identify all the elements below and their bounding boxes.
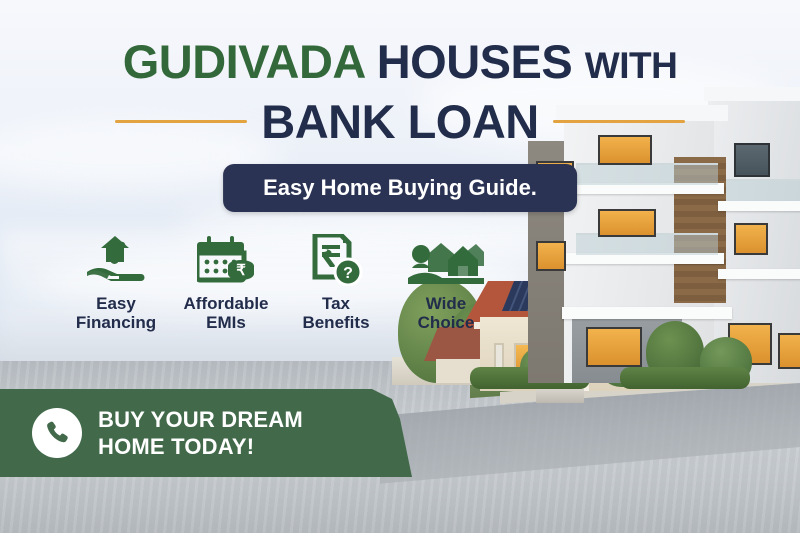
cta-banner[interactable]: BUY YOUR DREAM HOME TODAY!	[0, 389, 412, 477]
headline-location: GUDIVADA	[123, 35, 364, 88]
headline-line-2: BANK LOAN	[261, 94, 538, 149]
headline-with: WITH	[585, 45, 678, 86]
hand-holding-house-icon	[66, 228, 166, 286]
feature-easy-financing: Easy Financing	[66, 228, 166, 332]
cta-text: BUY YOUR DREAM HOME TODAY!	[98, 406, 303, 461]
cta-line-1: BUY YOUR DREAM	[98, 407, 303, 432]
divider-rule-right	[553, 120, 685, 123]
feature-label: Affordable EMIs	[176, 294, 276, 332]
feature-list: Easy Financing ₹	[66, 228, 496, 332]
svg-text:?: ?	[343, 265, 353, 282]
headline-subject: HOUSES	[377, 35, 573, 88]
headline: GUDIVADA HOUSES WITH BANK LOAN	[0, 38, 800, 149]
advertisement-banner: GUDIVADA HOUSES WITH BANK LOAN Easy Home…	[0, 0, 800, 533]
subtitle-pill: Easy Home Buying Guide.	[223, 164, 577, 212]
feature-tax-benefits: ? Tax Benefits	[286, 228, 386, 332]
feature-label: Easy Financing	[66, 294, 166, 332]
balcony-railing	[576, 163, 718, 185]
rupee-document-question-icon: ?	[286, 228, 386, 286]
feature-label: Tax Benefits	[286, 294, 386, 332]
cta-line-2: HOME TODAY!	[98, 434, 254, 459]
svg-text:₹: ₹	[236, 262, 246, 279]
feature-wide-choice: Wide Choice	[396, 228, 496, 332]
calendar-rupee-icon: ₹	[176, 228, 276, 286]
phone-icon[interactable]	[32, 408, 82, 458]
balcony-railing	[726, 179, 800, 201]
feature-affordable-emis: ₹ Affordable EMIs	[176, 228, 276, 332]
divider-rule-left	[115, 120, 247, 123]
headline-line-1: GUDIVADA HOUSES WITH	[0, 38, 800, 87]
feature-label: Wide Choice	[396, 294, 496, 332]
hedge	[620, 367, 750, 389]
houses-cluster-icon	[396, 228, 496, 286]
